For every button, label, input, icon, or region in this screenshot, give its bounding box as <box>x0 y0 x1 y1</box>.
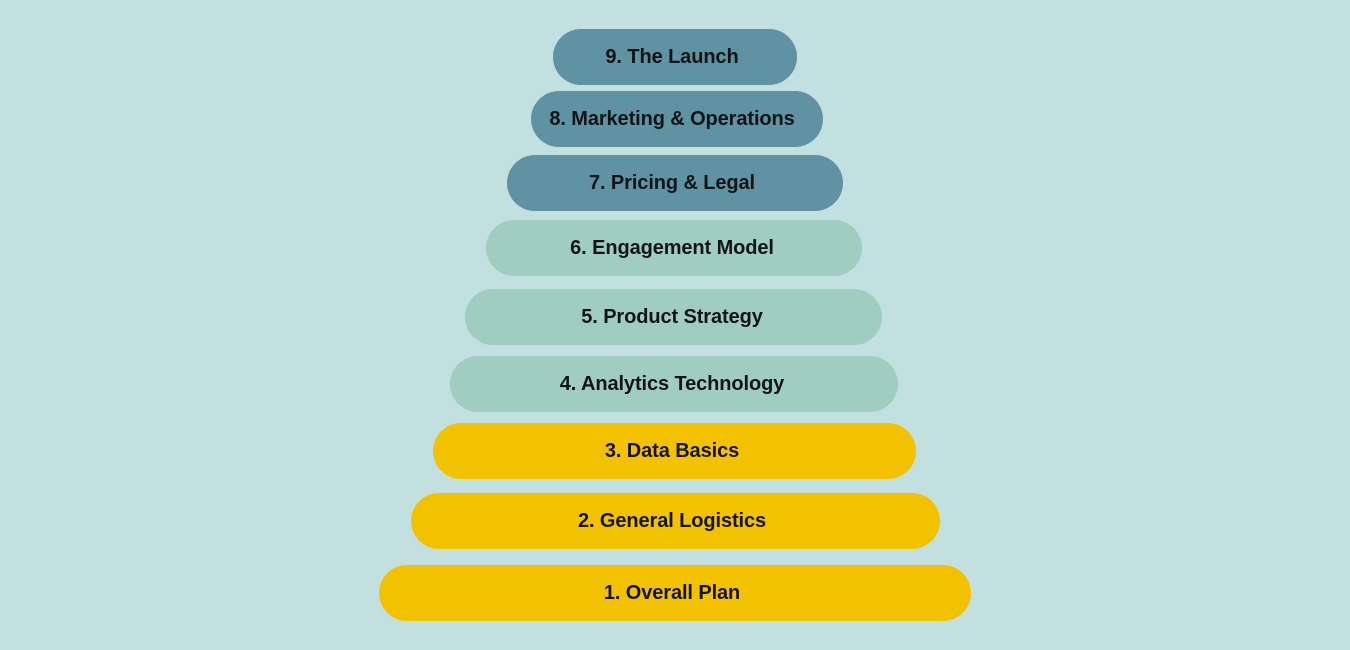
pyramid-level-label-1: 1. Overall Plan <box>604 565 740 621</box>
pyramid-level-label-4: 4. Analytics Technology <box>560 356 784 412</box>
pyramid-level-label-9: 9. The Launch <box>605 29 738 85</box>
pyramid-level-label-3: 3. Data Basics <box>605 423 739 479</box>
pyramid-level-label-2: 2. General Logistics <box>578 493 766 549</box>
pyramid-diagram: 9. The Launch8. Marketing & Operations7.… <box>0 0 1350 650</box>
pyramid-level-label-8: 8. Marketing & Operations <box>549 91 794 147</box>
pyramid-level-label-5: 5. Product Strategy <box>581 289 762 345</box>
pyramid-level-label-6: 6. Engagement Model <box>570 220 774 276</box>
pyramid-level-label-7: 7. Pricing & Legal <box>589 155 755 211</box>
